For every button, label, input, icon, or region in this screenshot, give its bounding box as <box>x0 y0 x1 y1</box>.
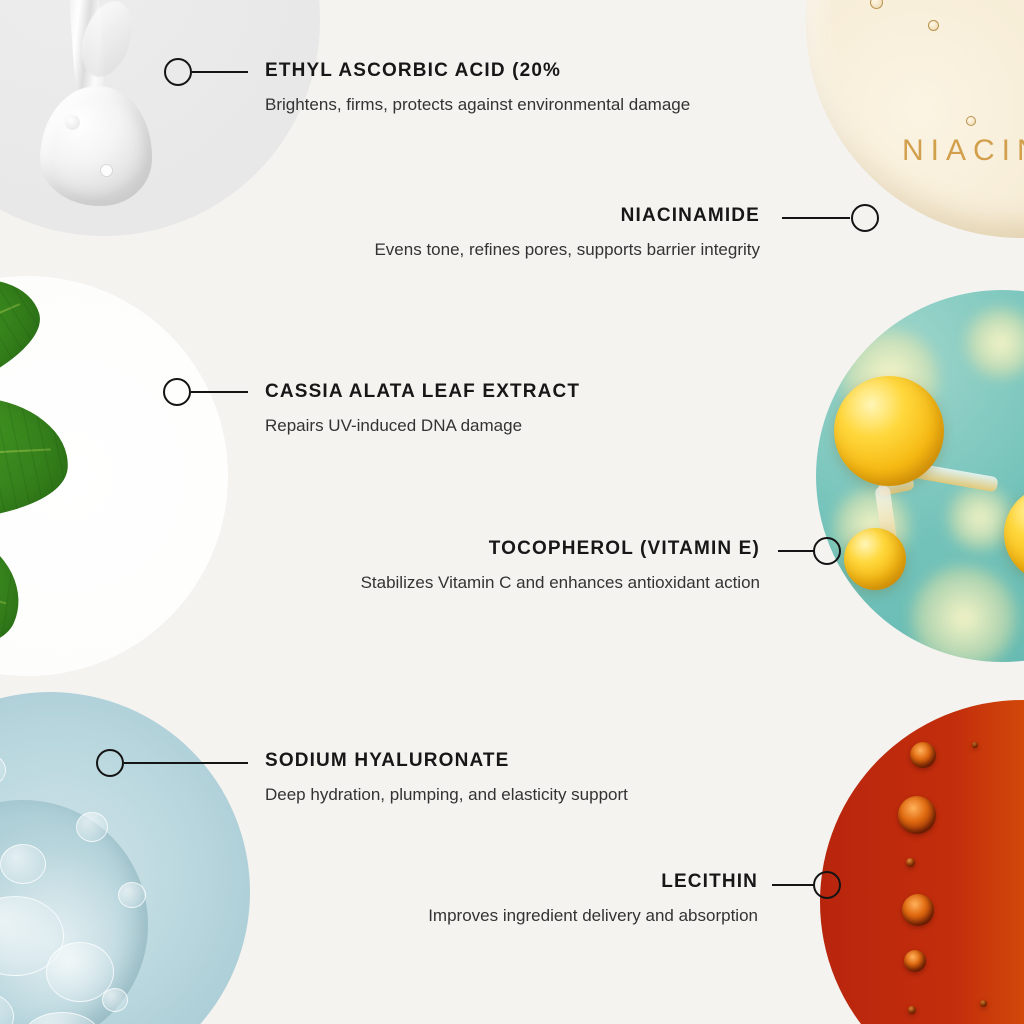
lecithin-droplet <box>908 1006 916 1014</box>
gel-bubble <box>118 882 146 908</box>
tocopherol-molecule-image <box>816 290 1024 662</box>
entry-tocopherol-vitamin-e: TOCOPHEROL (VITAMIN E) Stabilizes Vitami… <box>252 538 760 596</box>
entry-description: Deep hydration, plumping, and elasticity… <box>265 781 785 809</box>
entry-description: Stabilizes Vitamin C and enhances antiox… <box>252 569 760 597</box>
droplet-bulb <box>40 86 152 206</box>
entry-title: NIACINAMIDE <box>256 205 760 228</box>
lecithin-droplet <box>902 894 934 926</box>
gel-bubble <box>102 988 128 1012</box>
entry-title: SODIUM HYALURONATE <box>265 750 785 773</box>
connector-line <box>124 762 248 764</box>
connector-line <box>192 71 248 73</box>
bokeh-light <box>912 566 1016 662</box>
lecithin-droplet <box>980 1000 987 1007</box>
connector-ring <box>164 58 192 86</box>
molecule-sphere <box>844 528 906 590</box>
bubble <box>928 20 939 31</box>
entry-title: LECITHIN <box>250 871 758 894</box>
entry-title: ETHYL ASCORBIC ACID (20% <box>265 60 785 83</box>
lecithin-droplet <box>906 858 915 867</box>
gel-bubble <box>76 812 108 842</box>
connector-ring <box>813 537 841 565</box>
entry-description: Brightens, firms, protects against envir… <box>265 91 785 119</box>
lecithin-fluid-image <box>820 700 1024 1024</box>
bubble <box>870 0 883 9</box>
connector-line <box>772 884 814 886</box>
connector-ring <box>851 204 879 232</box>
lecithin-droplet <box>972 742 978 748</box>
bubble <box>966 116 976 126</box>
entry-lecithin: LECITHIN Improves ingredient delivery an… <box>250 871 758 929</box>
cassia-leaves-image <box>0 276 228 676</box>
connector-line <box>191 391 248 393</box>
connector-ring <box>813 871 841 899</box>
bokeh-light <box>948 486 1012 550</box>
gel-bubble <box>0 844 46 884</box>
lecithin-droplet <box>898 796 936 834</box>
entry-title: CASSIA ALATA LEAF EXTRACT <box>265 381 785 404</box>
entry-sodium-hyaluronate: SODIUM HYALURONATE Deep hydration, plump… <box>265 750 785 808</box>
hyaluronate-gel-image <box>0 692 250 1024</box>
connector-ring <box>163 378 191 406</box>
entry-description: Improves ingredient delivery and absorpt… <box>250 902 758 930</box>
entry-description: Evens tone, refines pores, supports barr… <box>256 236 760 264</box>
entry-niacinamide: NIACINAMIDE Evens tone, refines pores, s… <box>256 205 760 263</box>
entry-title: TOCOPHEROL (VITAMIN E) <box>252 538 760 561</box>
molecule-sphere <box>834 376 944 486</box>
gel-bubble <box>0 754 6 786</box>
entry-ethyl-ascorbic-acid: ETHYL ASCORBIC ACID (20% Brightens, firm… <box>265 60 785 118</box>
entry-cassia-alata-leaf-extract: CASSIA ALATA LEAF EXTRACT Repairs UV-ind… <box>265 381 785 439</box>
entry-description: Repairs UV-induced DNA damage <box>265 412 785 440</box>
leaf <box>0 384 72 532</box>
lecithin-droplet <box>910 742 936 768</box>
infographic-canvas: B NIACINA <box>0 0 1024 1024</box>
lecithin-droplet <box>904 950 926 972</box>
connector-line <box>778 550 814 552</box>
connector-ring <box>96 749 124 777</box>
bokeh-light <box>966 308 1024 378</box>
vitamin-b-letter: B <box>924 0 1024 34</box>
connector-line <box>782 217 850 219</box>
niacinamide-wordmark: NIACINA <box>902 134 1024 168</box>
niacinamide-droplet-image: B NIACINA <box>806 0 1024 238</box>
